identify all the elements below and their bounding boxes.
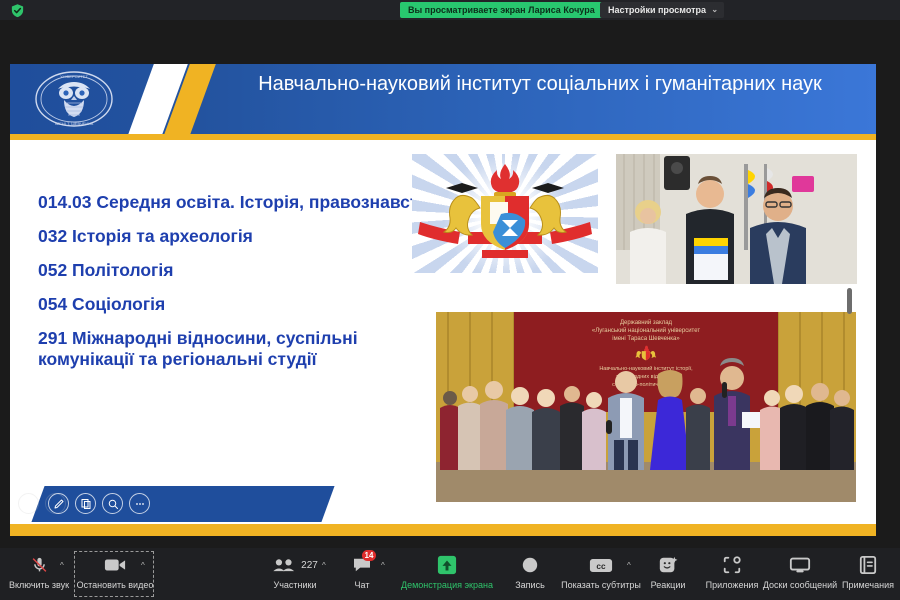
reactions-button[interactable]: Реакции <box>644 553 692 597</box>
pen-icon[interactable] <box>48 493 69 514</box>
shared-screen-slide: УНІВЕРСИТЕТ ІМЕНІ Т. ШЕВЧЕНКА Навчально-… <box>10 64 876 536</box>
unmute-label: Включить звук <box>9 579 69 591</box>
screen-share-notice: Вы просматриваете экран Лариса Кочура <box>400 2 603 18</box>
captions-label: Показать субтитры <box>561 579 641 591</box>
hidden-tool-icon <box>18 493 39 514</box>
list-item: 291 Міжнародні відносини, суспільні кому… <box>38 328 448 370</box>
captions-caret[interactable]: ^ <box>627 561 631 570</box>
meeting-controls-toolbar: Включить звук ^ Остановить видео ^ <box>0 548 900 600</box>
side-panel-drag-handle[interactable] <box>847 288 852 314</box>
svg-text:Навчально-науковий інститут іс: Навчально-науковий інститут історії, <box>599 365 693 372</box>
slide-title: Навчально-науковий інститут соціальних і… <box>220 70 860 99</box>
chat-unread-badge: 14 <box>362 550 376 561</box>
header-gold-underline <box>10 134 876 140</box>
share-screen-button[interactable]: Демонстрация экрана <box>404 553 490 597</box>
participants-button[interactable]: 227 Участники <box>266 553 324 597</box>
participants-count: 227 <box>301 560 318 571</box>
whiteboards-label: Доски сообщений <box>763 579 837 591</box>
students-group-stage-photo: Державний заклад «Луганський національни… <box>436 312 856 502</box>
whiteboard-icon <box>789 553 811 577</box>
svg-text:cc: cc <box>596 561 606 571</box>
magnifier-icon[interactable] <box>102 493 123 514</box>
svg-text:«Луганський національний уніве: «Луганський національний університет <box>592 327 700 334</box>
chat-label: Чат <box>355 579 370 591</box>
audio-options-caret[interactable]: ^ <box>60 561 64 570</box>
record-label: Запись <box>515 579 545 591</box>
list-item: 032 Історія та археологія <box>38 226 448 247</box>
annotation-toolbar[interactable] <box>48 493 150 514</box>
whiteboards-button[interactable]: Доски сообщений <box>760 553 840 597</box>
view-options-button[interactable]: Настройки просмотра ⌄ <box>600 2 724 18</box>
list-item: 052 Політологія <box>38 260 448 281</box>
slide-footer-gold-bar <box>10 524 876 536</box>
specialties-list: 014.03 Середня освіта. Історія, правозна… <box>38 192 448 383</box>
chat-bubble-icon: 14 <box>352 553 372 577</box>
shield-check-icon <box>10 3 25 18</box>
people-icon: 227 <box>272 553 318 577</box>
chat-caret[interactable]: ^ <box>381 561 385 570</box>
university-owl-seal-icon: УНІВЕРСИТЕТ ІМЕНІ Т. ШЕВЧЕНКА <box>32 69 116 129</box>
svg-text:УНІВЕРСИТЕТ: УНІВЕРСИТЕТ <box>60 74 88 79</box>
notes-button[interactable]: Примечания <box>838 553 898 597</box>
participants-label: Участники <box>274 579 317 591</box>
record-circle-icon <box>521 553 539 577</box>
svg-text:імені Тараса Шевченка»: імені Тараса Шевченка» <box>612 336 680 342</box>
reactions-smiley-icon <box>658 553 678 577</box>
screen-share-topbar: Вы просматриваете экран Лариса Кочура На… <box>0 0 900 20</box>
view-options-label: Настройки просмотра <box>608 5 706 15</box>
slide-header-band: УНІВЕРСИТЕТ ІМЕНІ Т. ШЕВЧЕНКА Навчально-… <box>10 64 876 134</box>
zoom-meeting-window: Вы просматриваете экран Лариса Кочура На… <box>0 0 900 600</box>
share-screen-label: Демонстрация экрана <box>401 579 493 591</box>
reactions-label: Реакции <box>651 579 686 591</box>
share-screen-up-arrow-icon <box>437 553 457 577</box>
microphone-muted-icon <box>31 553 48 577</box>
apps-label: Приложения <box>706 579 759 591</box>
video-camera-icon <box>104 553 126 577</box>
chat-button[interactable]: 14 Чат <box>343 553 381 597</box>
stop-video-label: Остановить видео <box>77 579 154 591</box>
stamp-icon[interactable] <box>75 493 96 514</box>
svg-text:ІМЕНІ Т. ШЕВЧЕНКА: ІМЕНІ Т. ШЕВЧЕНКА <box>55 121 94 126</box>
university-coat-of-arms-image <box>412 154 598 273</box>
chevron-down-icon: ⌄ <box>711 5 718 15</box>
participants-caret[interactable]: ^ <box>322 561 326 570</box>
more-options-icon[interactable] <box>129 493 150 514</box>
list-item: 014.03 Середня освіта. Історія, правозна… <box>38 192 448 213</box>
list-item: 054 Соціологія <box>38 294 448 315</box>
cc-icon: cc <box>589 553 613 577</box>
record-button[interactable]: Запись <box>508 553 552 597</box>
apps-button[interactable]: Приложения <box>700 553 764 597</box>
unmute-button[interactable]: Включить звук <box>6 553 72 597</box>
notes-document-icon <box>859 553 877 577</box>
captions-button[interactable]: cc Показать субтитры <box>562 553 640 597</box>
award-ceremony-photo <box>616 154 857 284</box>
stop-video-button[interactable]: Остановить видео <box>80 553 150 597</box>
notes-label: Примечания <box>842 579 894 591</box>
video-options-caret[interactable]: ^ <box>141 561 145 570</box>
apps-grid-icon <box>722 553 742 577</box>
svg-text:Державний заклад: Державний заклад <box>620 319 673 326</box>
